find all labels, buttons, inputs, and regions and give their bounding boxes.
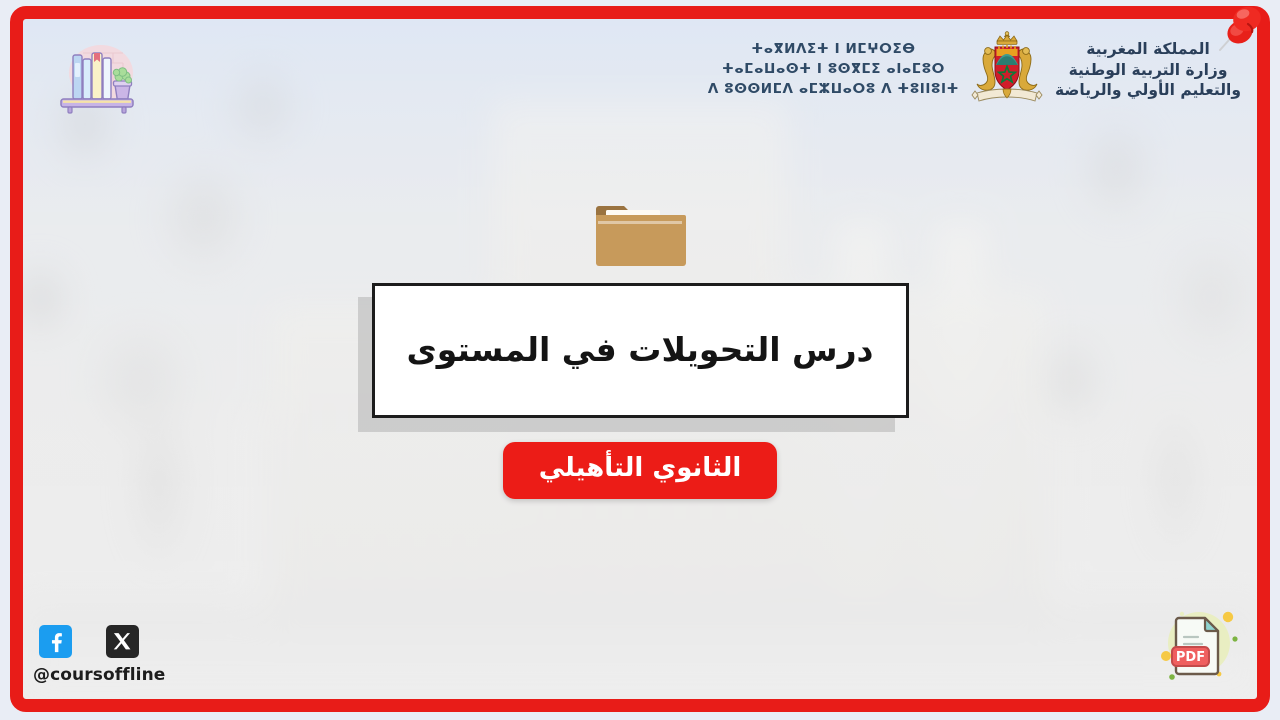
page-title: درس التحويلات في المستوى [407,328,874,373]
ministry-ar-line3: والتعليم الأولي والرياضة [1055,80,1241,101]
header: المملكة المغربية وزارة التربية الوطنية و… [23,19,1257,129]
ministry-name-tifinagh: ⵜⴰⴳⵍⴷⵉⵜ ⵏ ⵍⵎⵖⵔⵉⴱ ⵜⴰⵎⴰⵡⴰⵙⵜ ⵏ ⵓⵙⴳⵎⵉ ⴰⵏⴰⵎⵓⵔ… [708,40,959,100]
pushpin-icon [1214,0,1272,66]
social-handle[interactable]: @coursoffline [31,665,165,685]
lesson-title-card: درس التحويلات في المستوى [372,283,909,418]
lesson-title-card-wrapper: درس التحويلات في المستوى [372,283,909,418]
pdf-download-badge[interactable]: PDF [1149,601,1245,687]
poster-stage: المملكة المغربية وزارة التربية الوطنية و… [23,19,1257,699]
pdf-badge-label: PDF [1176,650,1205,665]
level-badge[interactable]: الثانوي التأهيلي [503,442,778,499]
ministry-tif-line3: ⴷ ⵓⵙⵙⵍⵎⴷ ⴰⵎⵣⵡⴰⵔⵓ ⴷ ⵜⵓⵏⵏⵓⵏⵜ [708,80,959,100]
morocco-coat-of-arms-icon [969,29,1045,111]
poster-canvas: المملكة المغربية وزارة التربية الوطنية و… [0,0,1280,720]
social-block: @coursoffline [31,625,165,685]
x-twitter-icon[interactable] [106,625,139,658]
ministry-tif-line2: ⵜⴰⵎⴰⵡⴰⵙⵜ ⵏ ⵓⵙⴳⵎⵉ ⴰⵏⴰⵎⵓⵔ [708,60,959,80]
bookshelf-icon [49,37,141,119]
ministry-tif-line1: ⵜⴰⴳⵍⴷⵉⵜ ⵏ ⵍⵎⵖⵔⵉⴱ [708,40,959,60]
lesson-hero: درس التحويلات في المستوى الثانوي التأهيل… [23,201,1257,499]
folder-icon [594,201,686,267]
social-icon-row [31,625,165,658]
facebook-icon[interactable] [39,625,72,658]
ministry-logo: المملكة المغربية وزارة التربية الوطنية و… [708,29,1241,111]
